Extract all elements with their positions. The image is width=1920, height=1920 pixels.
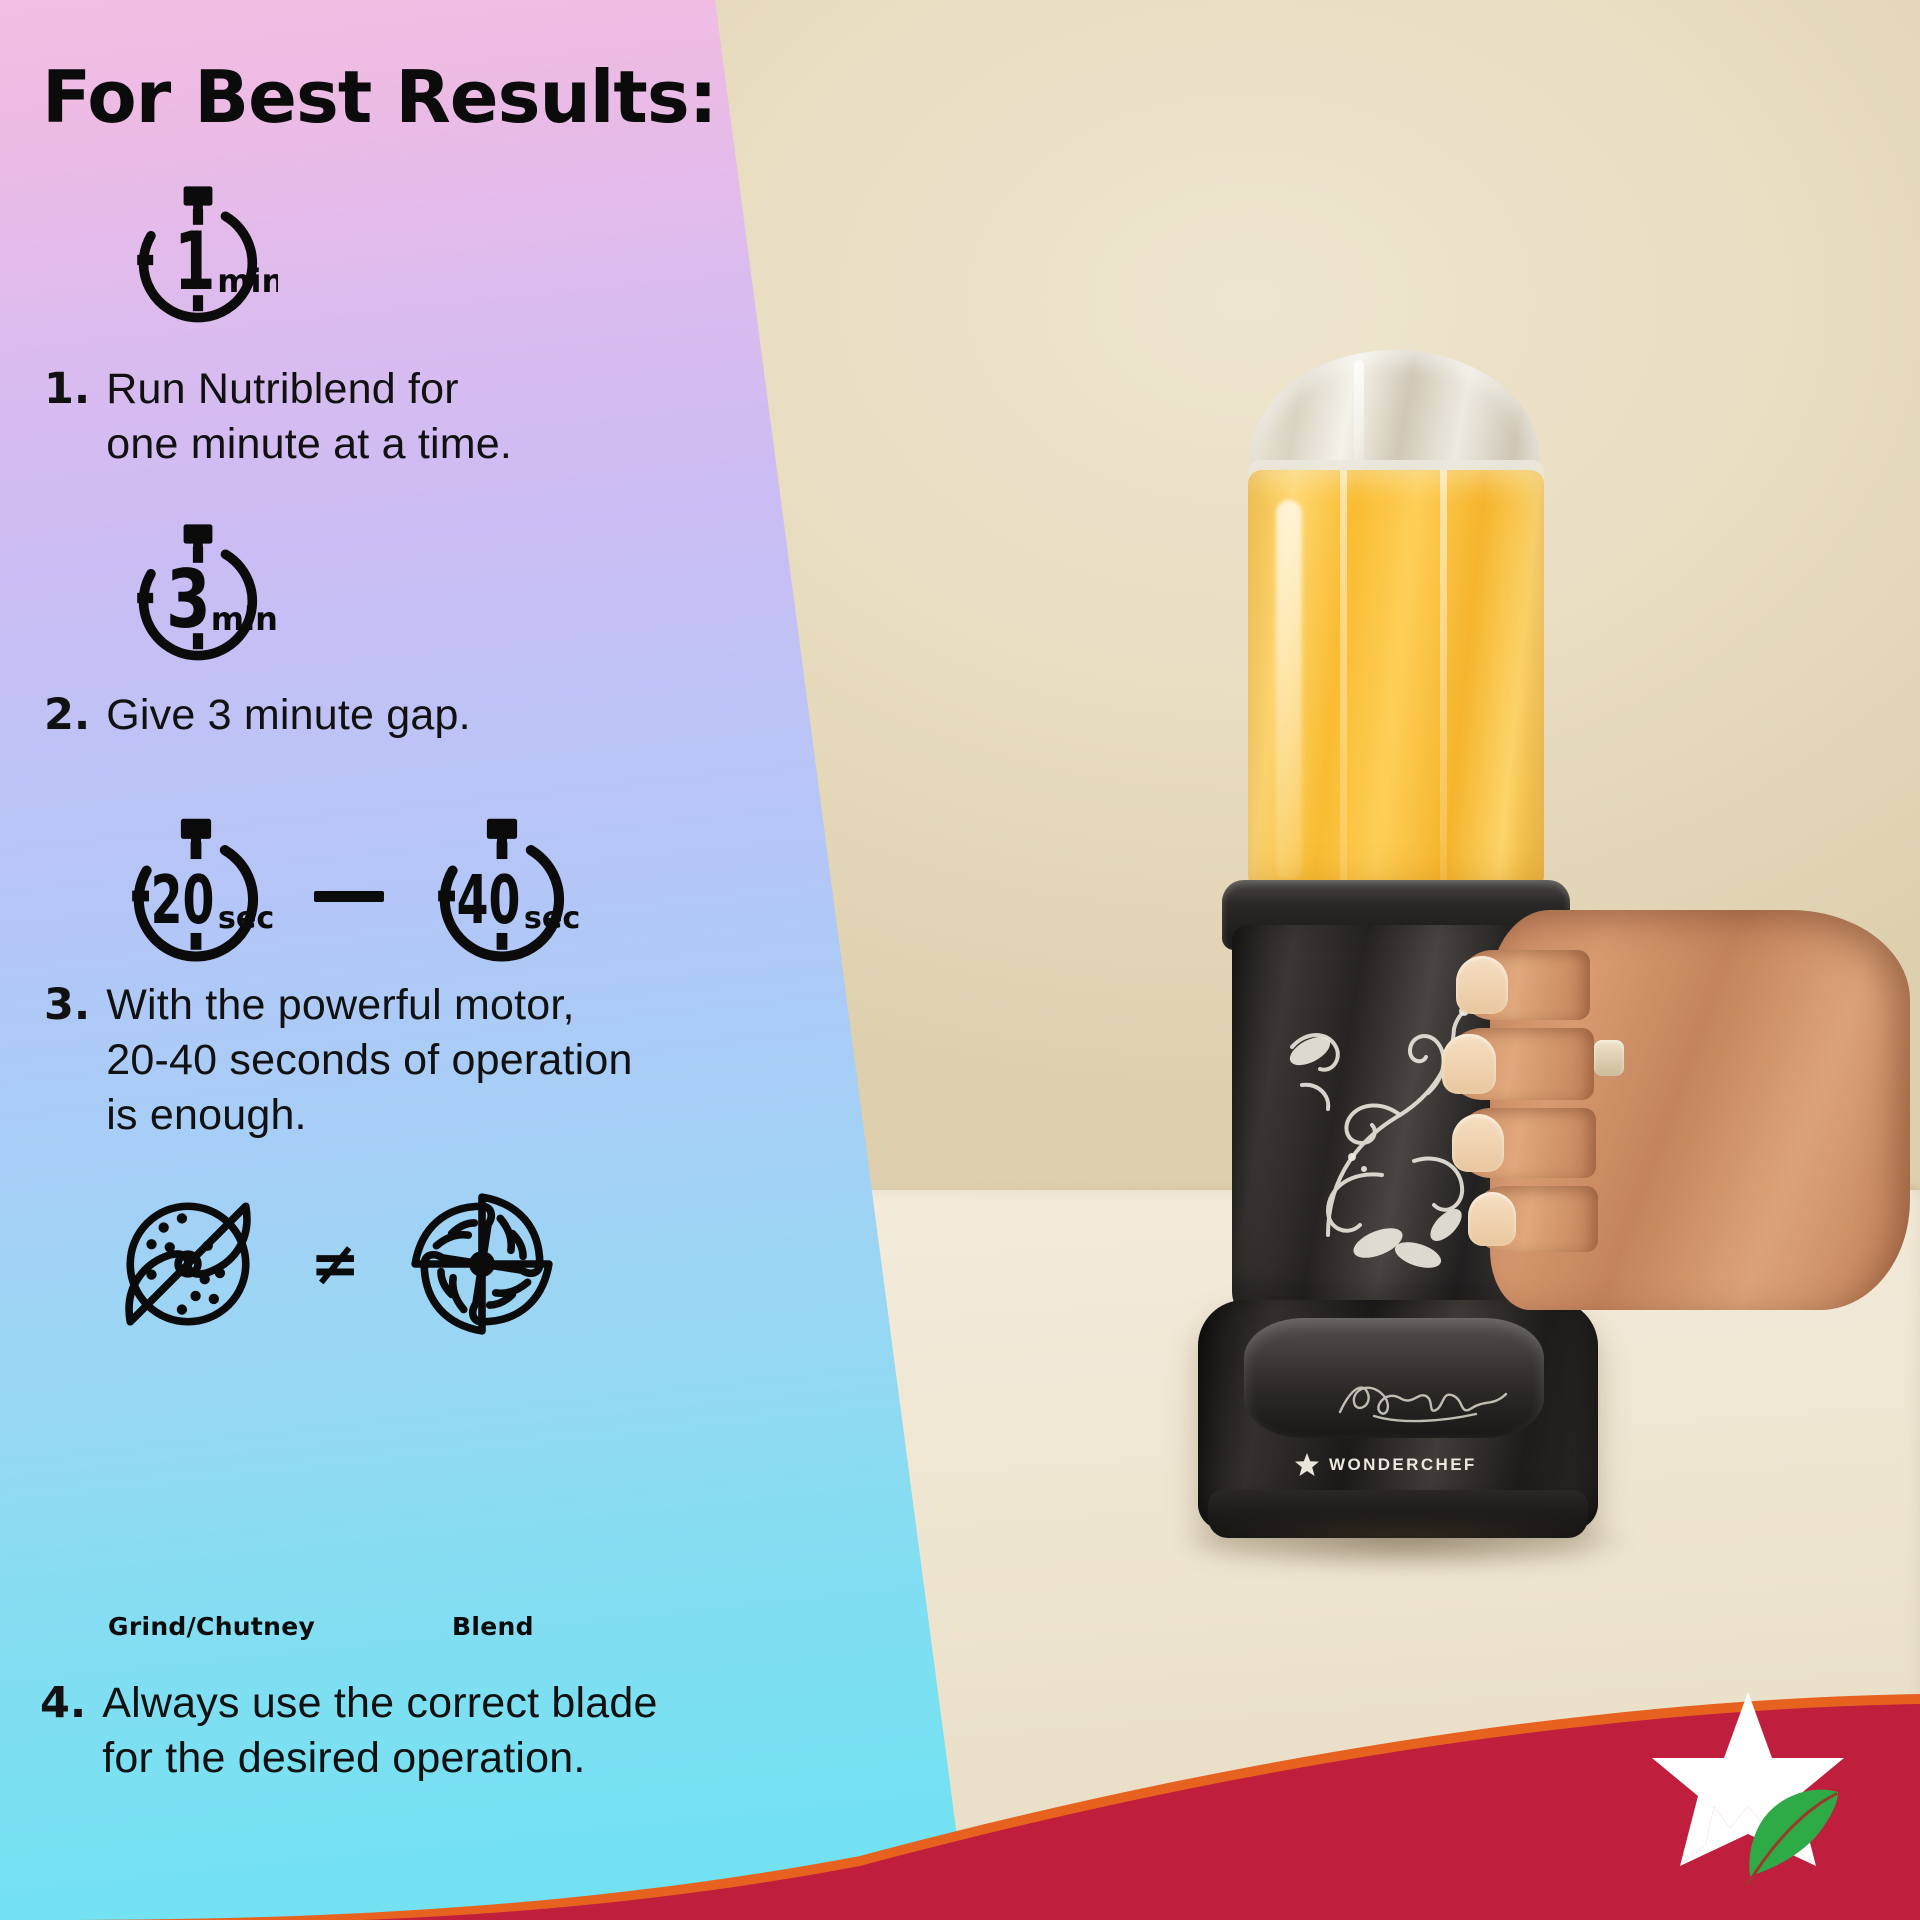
timer-3-min-row: 3 min	[118, 518, 278, 678]
timer-1-value: 1	[174, 215, 216, 308]
step-3-number: 3.	[44, 978, 90, 1143]
step-4-line-2: for the desired operation.	[102, 1731, 657, 1786]
ring-fingernail	[1452, 1114, 1504, 1172]
step-2-line-1: Give 3 minute gap.	[106, 688, 471, 743]
timer-3-value: 3	[166, 553, 211, 646]
wonderchef-star-leaf-icon	[1648, 1684, 1848, 1894]
chef-signature	[1330, 1366, 1520, 1436]
jar-ridge-left	[1340, 470, 1347, 900]
step-3: 3. With the powerful motor, 20-40 second…	[44, 978, 724, 1143]
not-equal-icon: ≠	[310, 1229, 360, 1299]
timer-1-min-row: 1 min!	[118, 180, 278, 340]
stopwatch-icon: 40 sec	[418, 812, 586, 980]
timer-range-row: 20 sec 40 sec	[112, 812, 586, 980]
index-fingernail	[1456, 956, 1508, 1014]
step-2-number: 2.	[44, 688, 90, 743]
jar-highlight	[1276, 500, 1302, 880]
jar-ridge-right	[1440, 470, 1447, 900]
step-1-line-2: one minute at a time.	[106, 417, 512, 472]
step-3-line-1: With the powerful motor,	[106, 978, 632, 1033]
range-separator-dash	[314, 891, 384, 902]
step-1-number: 1.	[44, 362, 90, 472]
step-2: 2. Give 3 minute gap.	[44, 688, 684, 743]
base-brand-lockup: WONDERCHEF	[1294, 1452, 1477, 1478]
middle-fingernail	[1442, 1034, 1496, 1094]
step-4-number: 4.	[40, 1676, 86, 1786]
timer-3-unit: min	[211, 600, 278, 638]
base-contact-shadow	[1170, 1518, 1640, 1574]
timer-40-value: 40	[457, 861, 521, 939]
stopwatch-icon: 1 min!	[118, 180, 278, 340]
grind-chutney-label: Grind/Chutney	[108, 1612, 315, 1641]
infographic-canvas: WONDERCHEF	[0, 0, 1920, 1920]
blend-label: Blend	[452, 1612, 534, 1641]
blade-comparison-row: ≠	[112, 1188, 558, 1340]
wonderchef-logo	[1648, 1684, 1848, 1894]
timer-20-value: 20	[151, 861, 215, 939]
nutriblend-product-image: WONDERCHEF	[1190, 350, 1710, 1650]
blending-blade-icon	[406, 1188, 558, 1340]
step-4-line-1: Always use the correct blade	[102, 1676, 657, 1731]
little-fingernail	[1468, 1192, 1516, 1246]
ring	[1594, 1040, 1624, 1076]
timer-40-unit: sec	[524, 901, 580, 936]
stopwatch-icon: 20 sec	[112, 812, 280, 980]
star-icon	[1294, 1452, 1320, 1478]
timer-20-unit: sec	[218, 901, 274, 936]
timer-1-unit: min!	[217, 262, 278, 300]
grinding-blade-icon	[112, 1188, 264, 1340]
page-title: For Best Results:	[42, 55, 717, 139]
base-brand-text: WONDERCHEF	[1329, 1455, 1477, 1475]
step-3-line-3: is enough.	[106, 1088, 632, 1143]
step-4: 4. Always use the correct blade for the …	[40, 1676, 740, 1786]
step-1: 1. Run Nutriblend for one minute at a ti…	[44, 362, 684, 472]
stopwatch-icon: 3 min	[118, 518, 278, 678]
step-1-line-1: Run Nutriblend for	[106, 362, 512, 417]
step-3-line-2: 20-40 seconds of operation	[106, 1033, 632, 1088]
